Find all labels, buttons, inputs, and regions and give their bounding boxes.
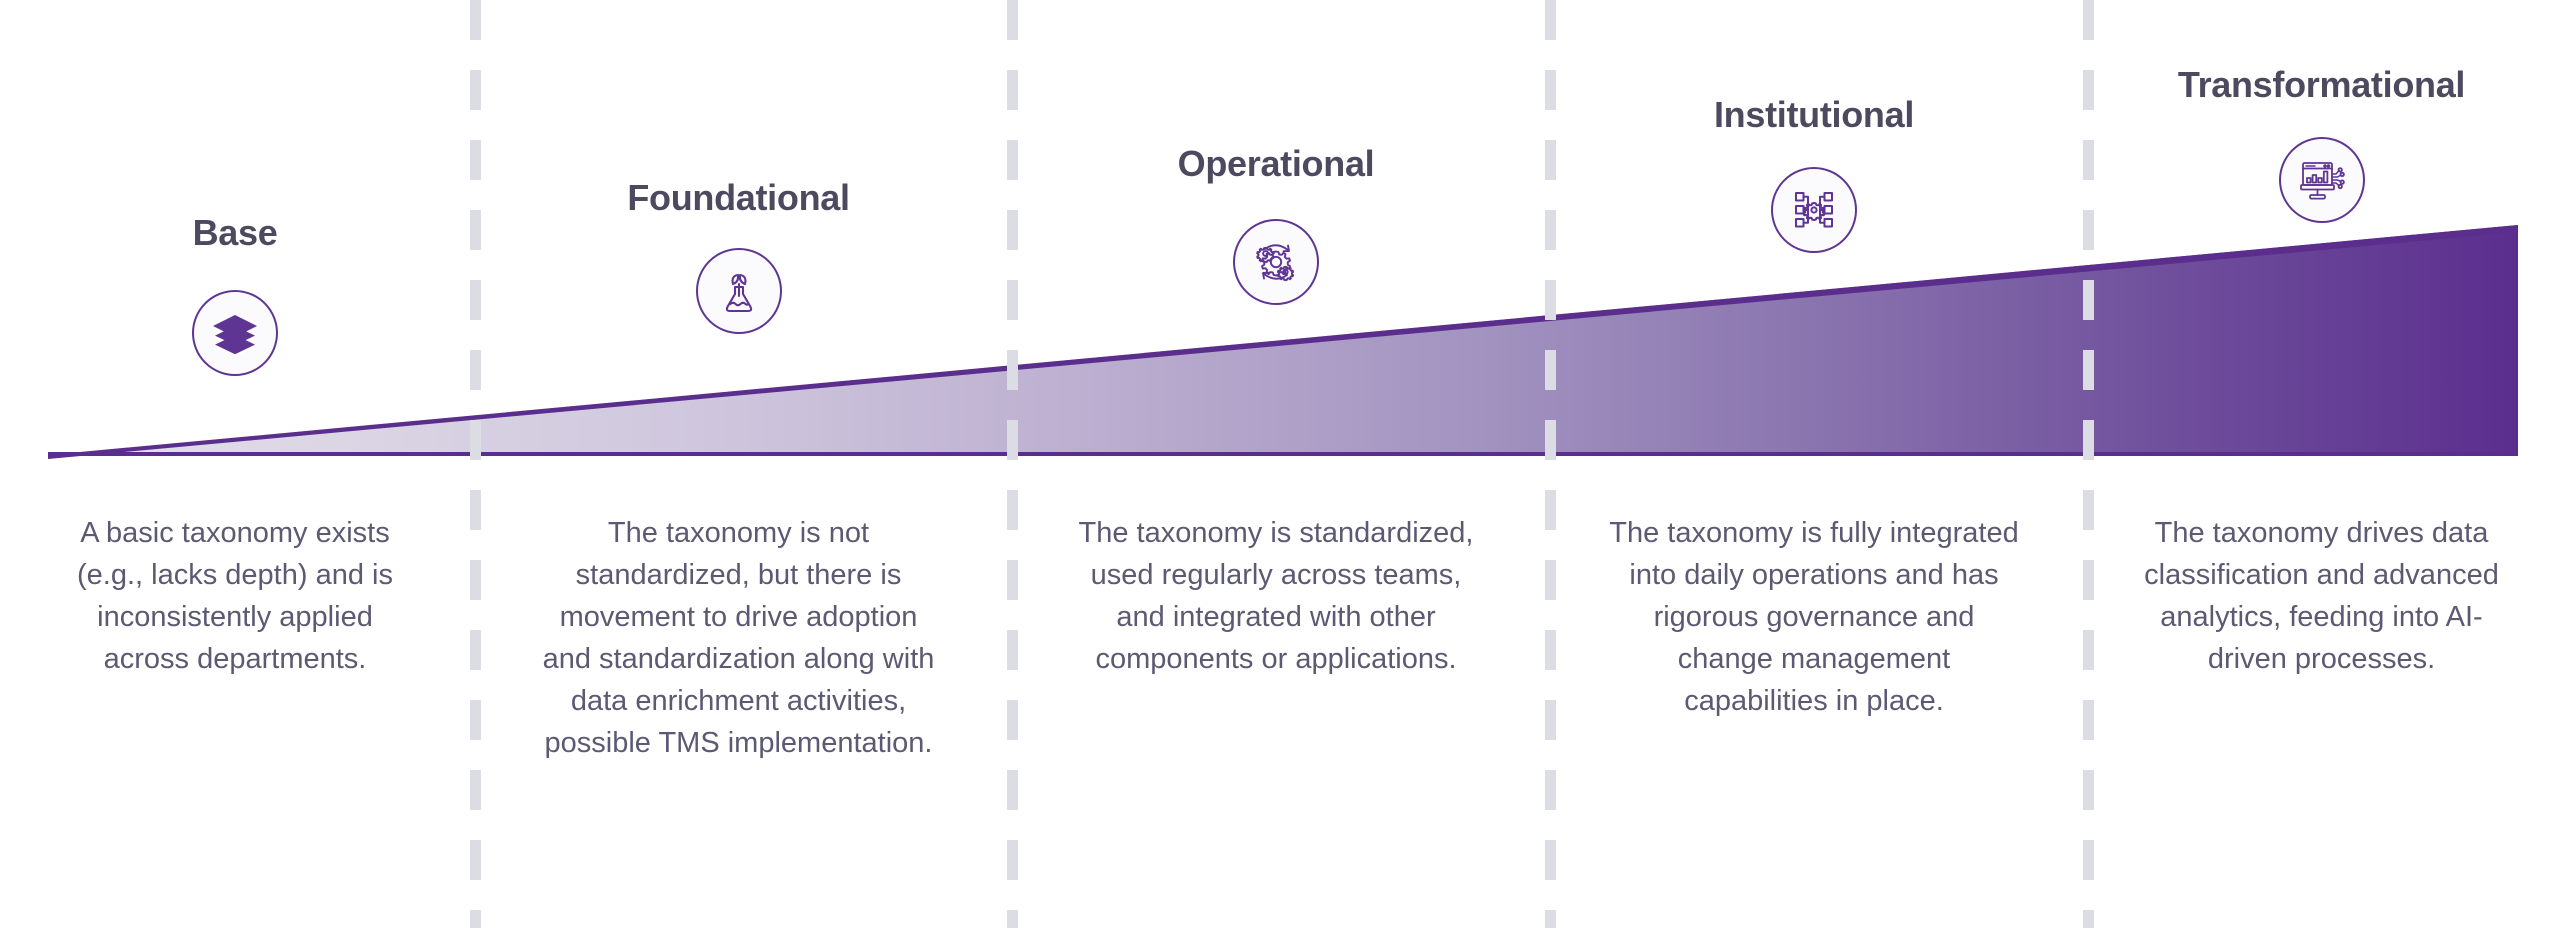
stage-description-base: A basic taxonomy exists (e.g., lacks dep… bbox=[55, 512, 415, 680]
layers-icon bbox=[192, 290, 278, 376]
stage-title-base: Base bbox=[0, 212, 470, 254]
stage-column-base[interactable]: Base A basic taxonomy exists (e.g., lack… bbox=[0, 0, 470, 928]
stage-title-foundational: Foundational bbox=[470, 177, 1007, 219]
stage-description-institutional: The taxonomy is fully integrated into da… bbox=[1604, 512, 2024, 722]
analytics-monitor-icon bbox=[2279, 137, 2365, 223]
stage-description-transformational: The taxonomy drives data classification … bbox=[2122, 512, 2522, 680]
stage-title-operational: Operational bbox=[1007, 143, 1545, 185]
stage-title-institutional: Institutional bbox=[1545, 94, 2083, 136]
stage-columns: Base A basic taxonomy exists (e.g., lack… bbox=[0, 0, 2560, 928]
maturity-model-diagram: Base A basic taxonomy exists (e.g., lack… bbox=[0, 0, 2560, 928]
stage-column-foundational[interactable]: Foundational The taxonomy is not standar… bbox=[470, 0, 1007, 928]
gears-cycle-icon bbox=[1233, 219, 1319, 305]
stage-column-transformational[interactable]: Transformational bbox=[2083, 0, 2560, 928]
sprout-flask-icon bbox=[696, 248, 782, 334]
stage-description-operational: The taxonomy is standardized, used regul… bbox=[1066, 512, 1486, 680]
stage-title-transformational: Transformational bbox=[2083, 64, 2560, 106]
stage-column-institutional[interactable]: Institutional The taxonomy is bbox=[1545, 0, 2083, 928]
stage-description-foundational: The taxonomy is not standardized, but th… bbox=[534, 512, 944, 764]
stage-column-operational[interactable]: Operational bbox=[1007, 0, 1545, 928]
network-gear-icon bbox=[1771, 167, 1857, 253]
